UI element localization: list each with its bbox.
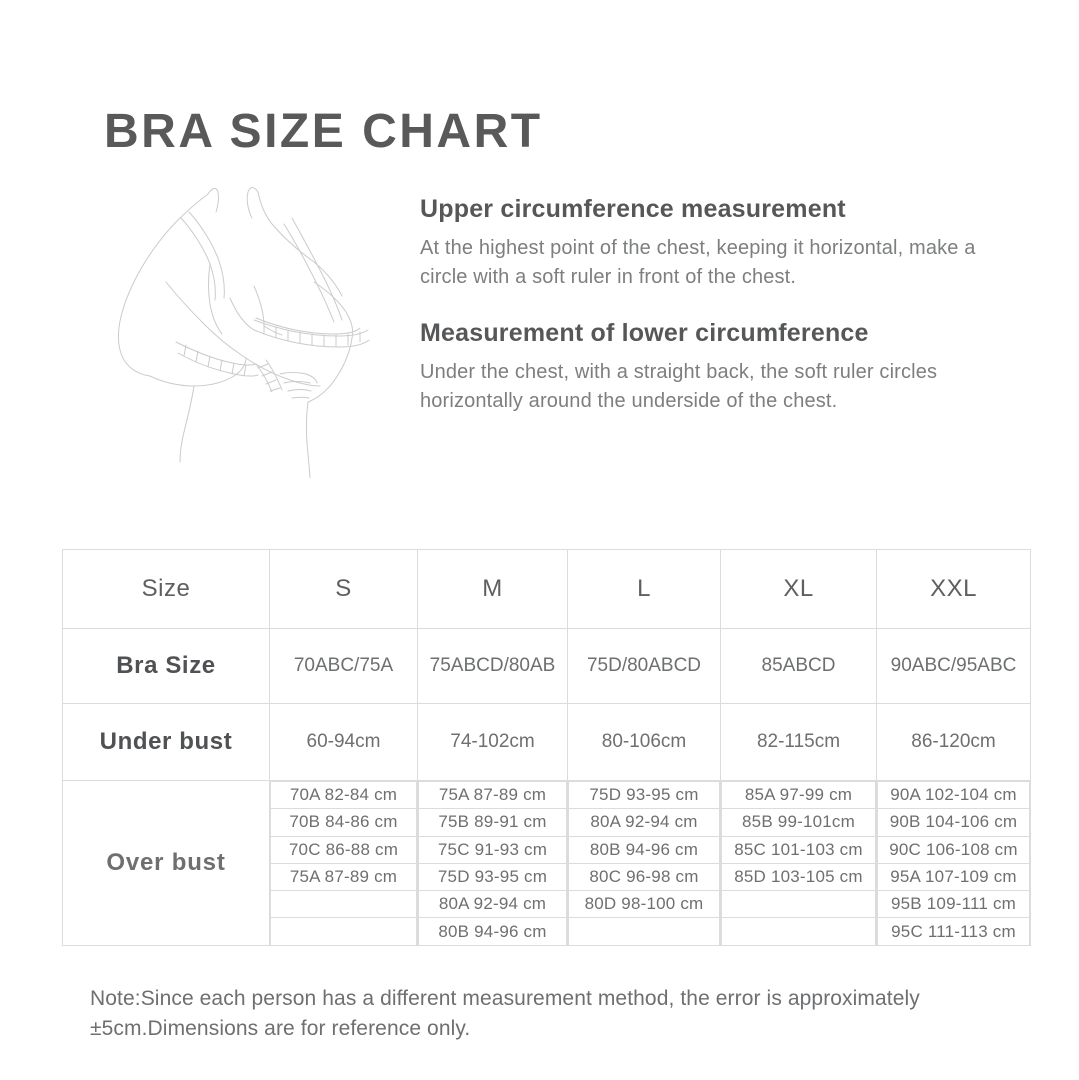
list-item: 75A 87-89 cm [271,863,417,890]
over-bust-sublist-xl: 85A 97-99 cm 85B 99-101cm 85C 101-103 cm… [721,781,876,945]
list-item: 75B 89-91 cm [419,809,567,836]
footnote: Note:Since each person has a different m… [90,984,990,1045]
instruction-heading-lower: Measurement of lower circumference [420,317,1020,351]
under-bust-xl: 82-115cm [721,704,877,781]
list-item: 90B 104-106 cm [878,809,1030,836]
row-label-under-bust: Under bust [63,704,270,781]
list-item-empty [722,891,876,918]
instructions: Upper circumference measurement At the h… [420,193,1020,417]
list-item: 90A 102-104 cm [878,782,1030,809]
list-item: 80D 98-100 cm [569,891,720,918]
bra-size-l: 75D/80ABCD [568,629,721,704]
bra-measurement-illustration [58,178,408,478]
instruction-heading-upper: Upper circumference measurement [420,193,1020,227]
list-item: 80A 92-94 cm [569,809,720,836]
list-item: 80B 94-96 cm [569,836,720,863]
over-bust-sublist-s: 70A 82-84 cm 70B 84-86 cm 70C 86-88 cm 7… [270,781,417,945]
over-bust-sublist-m: 75A 87-89 cm 75B 89-91 cm 75C 91-93 cm 7… [418,781,567,945]
list-item-empty [271,891,417,918]
list-item-empty [569,918,720,945]
row-label-bra-size: Bra Size [63,629,270,704]
table-row-bra-size: Bra Size 70ABC/75A 75ABCD/80AB 75D/80ABC… [63,629,1031,704]
list-item-empty [271,918,417,945]
size-table-wrapper: Size S M L XL XXL Bra Size 70ABC/75A 75A… [62,549,1030,946]
row-label-over-bust: Over bust [63,781,270,946]
size-table: Size S M L XL XXL Bra Size 70ABC/75A 75A… [62,549,1031,946]
list-item: 85B 99-101cm [722,809,876,836]
table-header-cell-size: Size [63,550,270,629]
list-item: 70A 82-84 cm [271,782,417,809]
over-bust-cell-l: 75D 93-95 cm 80A 92-94 cm 80B 94-96 cm 8… [568,781,721,946]
list-item: 70C 86-88 cm [271,836,417,863]
list-item: 75A 87-89 cm [419,782,567,809]
over-bust-cell-xxl: 90A 102-104 cm 90B 104-106 cm 90C 106-10… [877,781,1031,946]
instruction-body-upper: At the highest point of the chest, keepi… [420,234,1020,293]
table-header-row: Size S M L XL XXL [63,550,1031,629]
instruction-block-upper: Upper circumference measurement At the h… [420,193,1020,293]
list-item: 70B 84-86 cm [271,809,417,836]
list-item: 75D 93-95 cm [569,782,720,809]
list-item: 75D 93-95 cm [419,863,567,890]
table-header-cell-xl: XL [721,550,877,629]
table-header-cell-s: S [270,550,418,629]
over-bust-cell-s: 70A 82-84 cm 70B 84-86 cm 70C 86-88 cm 7… [270,781,418,946]
table-header-cell-m: M [418,550,568,629]
list-item-empty [722,918,876,945]
instruction-block-lower: Measurement of lower circumference Under… [420,317,1020,417]
bra-size-chart-page: BRA SIZE CHART [0,0,1079,1080]
list-item: 95B 109-111 cm [878,891,1030,918]
list-item: 95A 107-109 cm [878,863,1030,890]
bra-size-xxl: 90ABC/95ABC [877,629,1031,704]
over-bust-sublist-xxl: 90A 102-104 cm 90B 104-106 cm 90C 106-10… [877,781,1030,945]
page-title: BRA SIZE CHART [104,106,543,159]
table-header-cell-xxl: XXL [877,550,1031,629]
under-bust-s: 60-94cm [270,704,418,781]
list-item: 85D 103-105 cm [722,863,876,890]
list-item: 90C 106-108 cm [878,836,1030,863]
list-item: 95C 111-113 cm [878,918,1030,945]
bra-size-s: 70ABC/75A [270,629,418,704]
under-bust-l: 80-106cm [568,704,721,781]
bra-size-xl: 85ABCD [721,629,877,704]
list-item: 85A 97-99 cm [722,782,876,809]
over-bust-sublist-l: 75D 93-95 cm 80A 92-94 cm 80B 94-96 cm 8… [568,781,720,945]
under-bust-m: 74-102cm [418,704,568,781]
over-bust-cell-xl: 85A 97-99 cm 85B 99-101cm 85C 101-103 cm… [721,781,877,946]
list-item: 75C 91-93 cm [419,836,567,863]
table-row-over-bust: Over bust 70A 82-84 cm 70B 84-86 cm 70C … [63,781,1031,946]
list-item: 80B 94-96 cm [419,918,567,945]
bra-size-m: 75ABCD/80AB [418,629,568,704]
list-item: 80A 92-94 cm [419,891,567,918]
table-row-under-bust: Under bust 60-94cm 74-102cm 80-106cm 82-… [63,704,1031,781]
table-header-cell-l: L [568,550,721,629]
list-item: 85C 101-103 cm [722,836,876,863]
over-bust-cell-m: 75A 87-89 cm 75B 89-91 cm 75C 91-93 cm 7… [418,781,568,946]
instruction-body-lower: Under the chest, with a straight back, t… [420,358,1020,417]
under-bust-xxl: 86-120cm [877,704,1031,781]
list-item: 80C 96-98 cm [569,863,720,890]
